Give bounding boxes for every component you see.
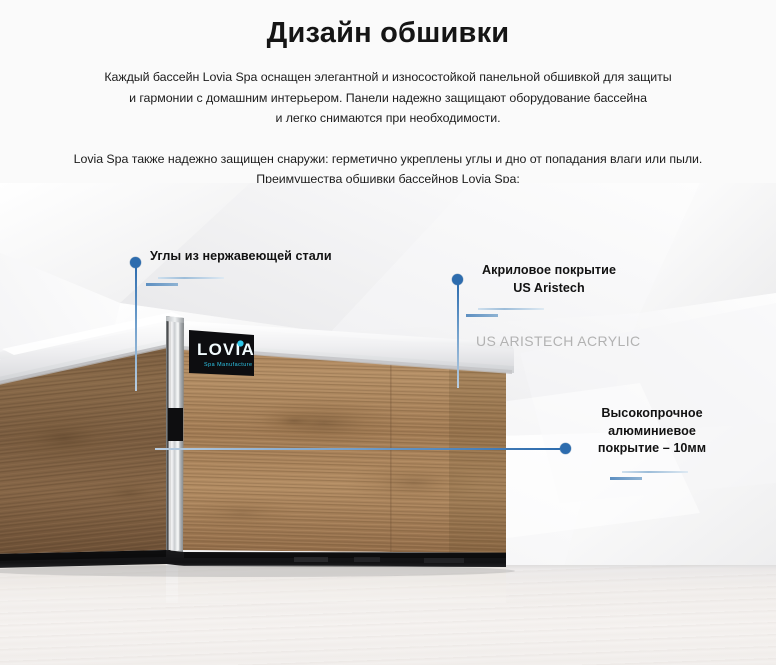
lovia-brand-badge: LOVIA Spa Manufacture [189,330,255,376]
underline-long [158,277,224,279]
callout-leader-line-acrylic-us-aristech [457,283,459,388]
intro-p2-line-1: Lovia Spa также надежно защищен снаружи:… [0,149,776,170]
stainless-steel-corner-post [166,316,184,553]
callout-aluminium-line-3: покрытие – 10мм [582,440,722,458]
spa-unit-illustration: LOVIA Spa Manufacture [0,183,514,583]
callout-aluminium-line-1: Высокопрочное [582,405,722,423]
underline-long [478,308,544,310]
callout-leader-line-stainless-corners [135,266,137,391]
underline-short [610,477,642,480]
brand-tagline-text: Spa Manufacture [204,362,253,368]
callout-leader-line-aluminium-coating [155,448,560,450]
product-photo-stage: LOVIA Spa Manufacture [0,183,776,665]
header-block: Дизайн обшивки Каждый бассейн Lovia Spa … [0,0,776,183]
corner-accent-inset [168,408,183,441]
callout-label-aluminium-coating: Высокопрочное алюминиевое покрытие – 10м… [582,405,722,458]
intro-paragraph-1: Каждый бассейн Lovia Spa оснащен элегант… [0,50,776,129]
callout-label-acrylic-us-aristech: Акриловое покрытие US Aristech [468,262,630,297]
callout-dot-aluminium-coating[interactable] [560,443,571,454]
callout-acrylic-line-1: Акриловое покрытие [468,262,630,280]
acrylic-watermark-text: US ARISTECH ACRYLIC [476,333,641,349]
underline-long [622,471,688,473]
brand-name-text: LOVIA [197,340,255,359]
page-title: Дизайн обшивки [0,0,776,50]
callout-acrylic-line-2: US Aristech [468,280,630,298]
intro-p1-line-1: Каждый бассейн Lovia Spa оснащен элегант… [0,67,776,88]
intro-paragraph-2: Lovia Spa также надежно защищен снаружи:… [0,129,776,190]
underline-short [466,314,498,317]
callout-aluminium-line-2: алюминиевое [582,423,722,441]
spa-cladding-infographic: Дизайн обшивки Каждый бассейн Lovia Spa … [0,0,776,665]
callout-stainless-corners-line-1: Углы из нержавеющей стали [150,248,332,266]
intro-p1-line-3: и легко снимаются при необходимости. [0,108,776,129]
callout-label-stainless-corners: Углы из нержавеющей стали [150,248,332,266]
intro-p1-line-2: и гармонии с домашним интерьером. Панели… [0,88,776,109]
underline-short [146,283,178,286]
